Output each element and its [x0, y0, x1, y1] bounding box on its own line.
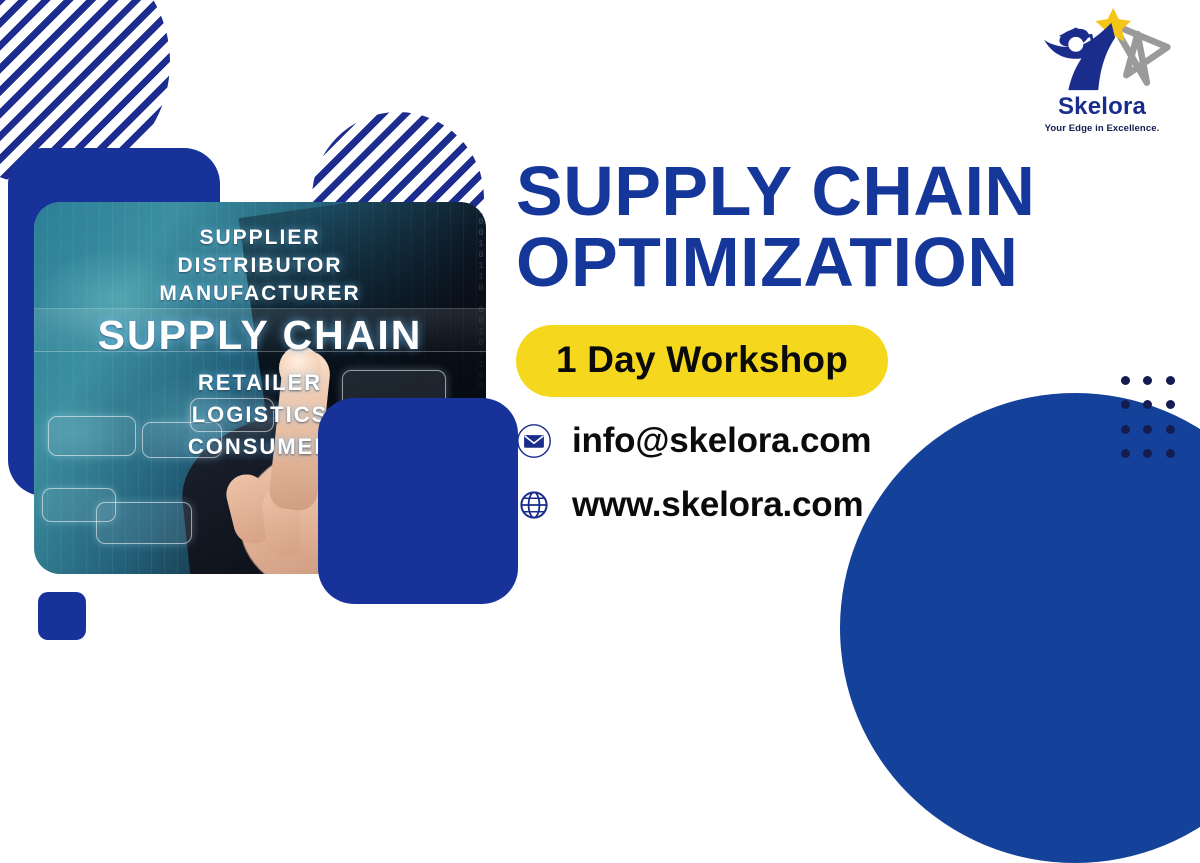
- grid-dot: [1166, 400, 1175, 409]
- graduate-star-logo-icon: [1026, 6, 1178, 92]
- photo-label-supplier: SUPPLIER: [34, 226, 486, 250]
- globe-icon: [516, 487, 552, 523]
- logo-tagline: Your Edge in Excellence.: [1026, 123, 1178, 134]
- striped-circle-top-left-decoration: [0, 0, 170, 186]
- grid-dot: [1166, 425, 1175, 434]
- envelope-icon: [516, 423, 552, 459]
- contact-website-row[interactable]: www.skelora.com: [516, 485, 1156, 525]
- photo-label-manufacturer: MANUFACTURER: [34, 282, 486, 306]
- grid-dot: [1166, 376, 1175, 385]
- grid-dot: [1166, 449, 1175, 458]
- contact-website-value: www.skelora.com: [572, 485, 863, 525]
- ui-panel-decoration: [96, 502, 192, 544]
- photo-label-supply-chain: SUPPLY CHAIN: [34, 312, 486, 359]
- title-line-2: OPTIMIZATION: [516, 229, 1156, 296]
- photo-label-retailer: RETAILER: [34, 370, 486, 396]
- page-title: SUPPLY CHAIN OPTIMIZATION: [516, 158, 1156, 295]
- workshop-duration-badge: 1 Day Workshop: [516, 325, 888, 397]
- photo-label-logistics: LOGISTICS: [34, 402, 486, 428]
- contact-email-value: info@skelora.com: [572, 421, 871, 461]
- contact-email-row[interactable]: info@skelora.com: [516, 421, 1156, 461]
- supply-chain-photo: 10010110 00101100 01001011 00110010 1001…: [34, 202, 486, 574]
- title-line-1: SUPPLY CHAIN: [516, 152, 1035, 230]
- photo-label-consumer: CONSUMER: [34, 434, 486, 460]
- logo-brand-name: Skelora: [1026, 95, 1178, 119]
- skelora-logo: Skelora Your Edge in Excellence.: [1026, 6, 1178, 134]
- blue-square-bottom-left-decoration: [38, 592, 86, 640]
- main-content: SUPPLY CHAIN OPTIMIZATION 1 Day Workshop…: [516, 158, 1156, 525]
- photo-label-distributor: DISTRIBUTOR: [34, 254, 486, 278]
